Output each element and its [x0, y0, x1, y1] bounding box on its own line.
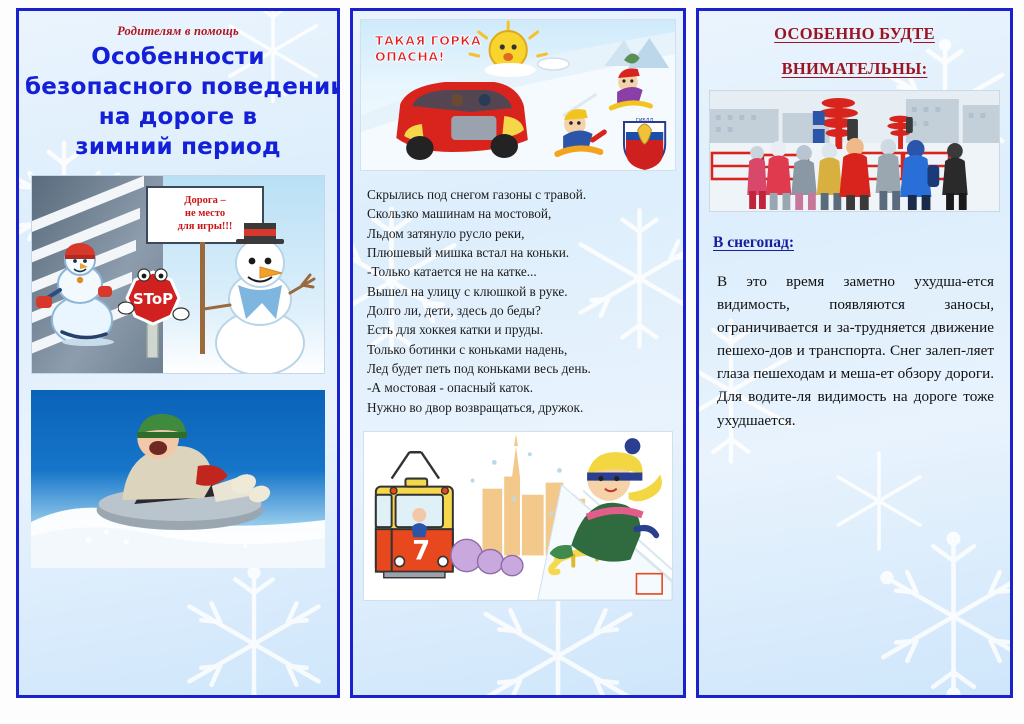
page-title: Особенности безопасного поведении на дор… [19, 43, 337, 163]
tram-and-sledding-girl-illustration: 7 [363, 431, 673, 601]
section-heading: ОСОБЕННО БУДТЕ ВНИМАТЕЛЬНЫ: [699, 24, 1010, 79]
tram-number: 7 [412, 536, 430, 566]
banner-caption: ТАКАЯ ГОРКА ОПАСНА! [375, 33, 481, 64]
kicker-text: Родителям в помощь [19, 24, 337, 39]
gibdd-emblem-icon: ГИБДД [624, 118, 665, 170]
banner-caption-line-2: ОПАСНА! [375, 49, 481, 65]
sign-line-1: Дорога – [184, 195, 225, 208]
stop-sign-icon: SToP [118, 268, 192, 358]
street-scene [710, 91, 999, 211]
poem-line: Долго ли, дети, здесь до беды? [367, 301, 675, 320]
tram-scene: 7 [364, 432, 672, 600]
sled-scene [31, 390, 325, 568]
poem-line: Скользко машинам на мостовой, [367, 204, 675, 223]
sun-icon [470, 22, 569, 77]
dangerous-hill-banner: ГИБДД ТАКАЯ ГОРКА ОПАСНА! [360, 19, 676, 171]
subheading-text: В снегопад: [713, 234, 794, 251]
poem-line: Нужно во двор возвращаться, дружок. [367, 398, 675, 417]
body-paragraph: В это время заметно ухудша-ется видимост… [717, 270, 994, 432]
snowman-crosswalk-illustration: SToP Дорога – не место для игры!!! [31, 175, 325, 374]
poem-line: Вышел на улицу с клюшкой в руке. [367, 282, 675, 301]
hockey-snowman-icon [36, 228, 131, 348]
title-line-4: зимний период [25, 133, 331, 163]
children-at-crossing-photo [709, 90, 1000, 212]
svg-text:SToP: SToP [133, 290, 173, 308]
child-sledding-photo [31, 390, 325, 568]
red-car-icon [396, 82, 527, 160]
snowman-icon [198, 223, 320, 373]
poem-line: Льдом затянуло русло реки, [367, 224, 675, 243]
svg-text:ГИБДД: ГИБДД [636, 118, 654, 124]
poem-line: Плюшевый мишка встал на коньки. [367, 243, 675, 262]
poem-line: Лед будет петь под коньками весь день. [367, 359, 675, 378]
heading-line-1: ОСОБЕННО БУДТЕ [774, 24, 935, 43]
poem-line: Только ботинки с коньками надень, [367, 340, 675, 359]
banner-caption-line-1: ТАКАЯ ГОРКА [375, 33, 481, 49]
panel-right: ОСОБЕННО БУДТЕ ВНИМАТЕЛЬНЫ: [696, 8, 1013, 698]
title-line-1: Особенности [25, 43, 331, 73]
heading-line-2: ВНИМАТЕЛЬНЫ: [699, 59, 1010, 79]
title-line-2: безопасного поведении [25, 73, 331, 103]
panel-middle: ГИБДД ТАКАЯ ГОРКА ОПАСНА! Скрылись под с… [350, 8, 686, 698]
poem-text: Скрылись под снегом газоны с травой. Ско… [353, 185, 683, 417]
poem-line: Скрылись под снегом газоны с травой. [367, 185, 675, 204]
poem-line: -Только катается не на катке... [367, 262, 675, 281]
poem-line: -А мостовая - опасный каток. [367, 378, 675, 397]
brochure-page: Родителям в помощь Особенности безопасно… [0, 0, 1024, 724]
sign-line-2: не место [185, 208, 225, 221]
title-line-3: на дороге в [25, 103, 331, 133]
panel-left: Родителям в помощь Особенности безопасно… [16, 8, 340, 698]
poem-line: Есть для хоккея катки и пруды. [367, 320, 675, 339]
subsection-heading: В снегопад: [713, 234, 1010, 252]
